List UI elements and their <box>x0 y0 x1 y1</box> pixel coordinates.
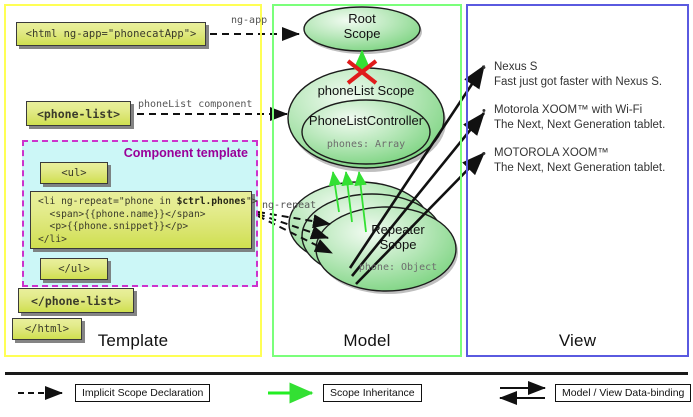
code-phone-list-open: <phone-list> <box>26 101 131 126</box>
list-item: • Nexus S Fast just got faster with Nexu… <box>482 60 687 89</box>
phone-name: MOTOROLA XOOM™ <box>494 146 687 160</box>
code-li-line2: <span>{{phone.name}}</span> <box>38 209 206 220</box>
legend-implicit-label: Implicit Scope Declaration <box>75 384 210 402</box>
bullet-icon: • <box>482 62 486 74</box>
code-ul-open: <ul> <box>40 162 108 184</box>
repeater-scope-label: Repeater Scope <box>348 222 448 252</box>
phonelist-scope-label: phoneList Scope <box>296 83 436 98</box>
panel-view-label: View <box>468 331 687 351</box>
root-scope-label: Root Scope <box>322 11 402 41</box>
phone-snippet: The Next, Next Generation tablet. <box>494 161 687 175</box>
panel-model-label: Model <box>274 331 460 351</box>
legend-implicit-scope-declaration: Implicit Scope Declaration <box>16 383 210 403</box>
code-html-open: <html ng-app="phonecatApp"> <box>16 22 206 46</box>
phone-snippet: The Next, Next Generation tablet. <box>494 118 687 132</box>
component-template-title: Component template <box>124 146 248 160</box>
phones-array-label: phones: Array <box>296 139 436 150</box>
code-html-close: </html> <box>12 318 82 340</box>
phone-object-label: phone: Object <box>336 262 460 273</box>
legend-model-view-data-binding: Model / View Data-binding <box>500 383 691 403</box>
edge-label-ng-app: ng-app <box>231 15 267 26</box>
code-li-line3: <p>{{phone.snippet}}</p> <box>38 221 188 232</box>
legend-binding-label: Model / View Data-binding <box>555 384 691 402</box>
view-phone-list: • Nexus S Fast just got faster with Nexu… <box>482 60 687 189</box>
phone-name: Nexus S <box>494 60 687 74</box>
legend-inheritance-label: Scope Inheritance <box>323 384 422 402</box>
code-li-ctrl-phones: $ctrl.phones <box>177 196 246 207</box>
phone-snippet: Fast just got faster with Nexus S. <box>494 75 687 89</box>
diagram-canvas: Template Model View Component template <… <box>0 0 693 417</box>
phone-name: Motorola XOOM™ with Wi-Fi <box>494 103 687 117</box>
panel-model: Model <box>272 4 462 357</box>
code-li-ng-repeat: <li ng-repeat="phone in $ctrl.phones"> <… <box>30 191 252 249</box>
phonelist-controller-label: PhoneListController <box>296 113 436 128</box>
code-ul-close: </ul> <box>40 258 108 280</box>
code-phone-list-close: </phone-list> <box>18 288 134 313</box>
code-li-line4: </li> <box>38 234 67 245</box>
list-item: • MOTOROLA XOOM™ The Next, Next Generati… <box>482 146 687 175</box>
legend-scope-inheritance: Scope Inheritance <box>268 383 422 403</box>
edge-label-phonelist-component: phoneList component <box>138 99 252 110</box>
edge-label-ng-repeat: ng-repeat <box>262 200 316 211</box>
code-li-line1-a: <li ng-repeat="phone in <box>38 196 177 207</box>
legend-divider <box>5 372 688 375</box>
bullet-icon: • <box>482 148 486 160</box>
list-item: • Motorola XOOM™ with Wi-Fi The Next, Ne… <box>482 103 687 132</box>
bullet-icon: • <box>482 105 486 117</box>
code-li-line1-c: "> <box>246 196 258 207</box>
